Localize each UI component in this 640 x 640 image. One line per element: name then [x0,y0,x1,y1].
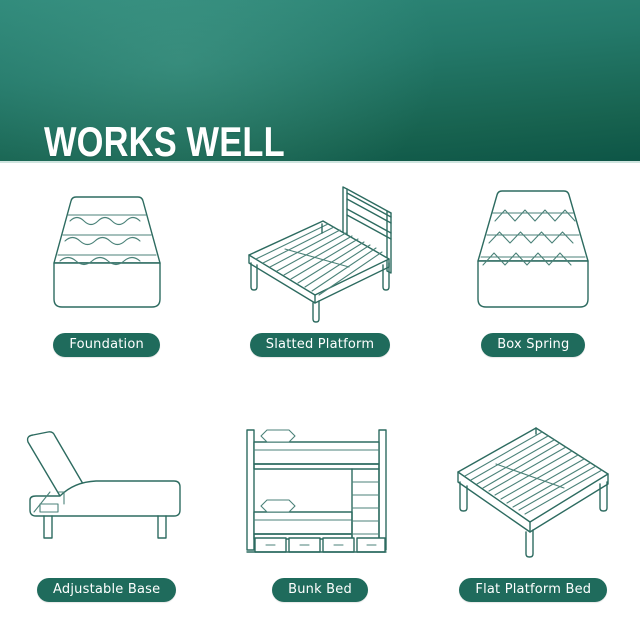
base-label-slatted-platform: Slatted Platform [250,333,390,357]
base-card-slatted-platform[interactable]: Slatted Platform [213,163,426,402]
base-label-flat-platform-bed: Flat Platform Bed [459,578,607,602]
box-spring-icon [440,177,626,327]
bases-grid: Foundation [0,163,640,640]
base-card-flat-platform-bed[interactable]: Flat Platform Bed [427,402,640,640]
flat-platform-bed-icon [440,416,626,566]
base-card-box-spring[interactable]: Box Spring [427,163,640,402]
slatted-platform-bed-icon [227,177,413,327]
base-label-box-spring: Box Spring [481,333,585,357]
base-label-bunk-bed: Bunk Bed [272,578,368,602]
page-title-line-1: WORKS WELL [44,118,387,163]
base-card-adjustable-base[interactable]: Adjustable Base [0,402,213,640]
page-title: WORKS WELL WITH THESE BASES [44,24,387,163]
header-banner: WORKS WELL WITH THESE BASES [0,0,640,163]
bunk-bed-icon [227,416,413,566]
base-card-foundation[interactable]: Foundation [0,163,213,402]
base-card-bunk-bed[interactable]: Bunk Bed [213,402,426,640]
adjustable-base-icon [14,416,200,566]
base-label-adjustable-base: Adjustable Base [37,578,176,602]
mattress-foundation-icon [14,177,200,327]
base-label-foundation: Foundation [53,333,160,357]
infographic-page: WORKS WELL WITH THESE BASES Foundation [0,0,640,640]
